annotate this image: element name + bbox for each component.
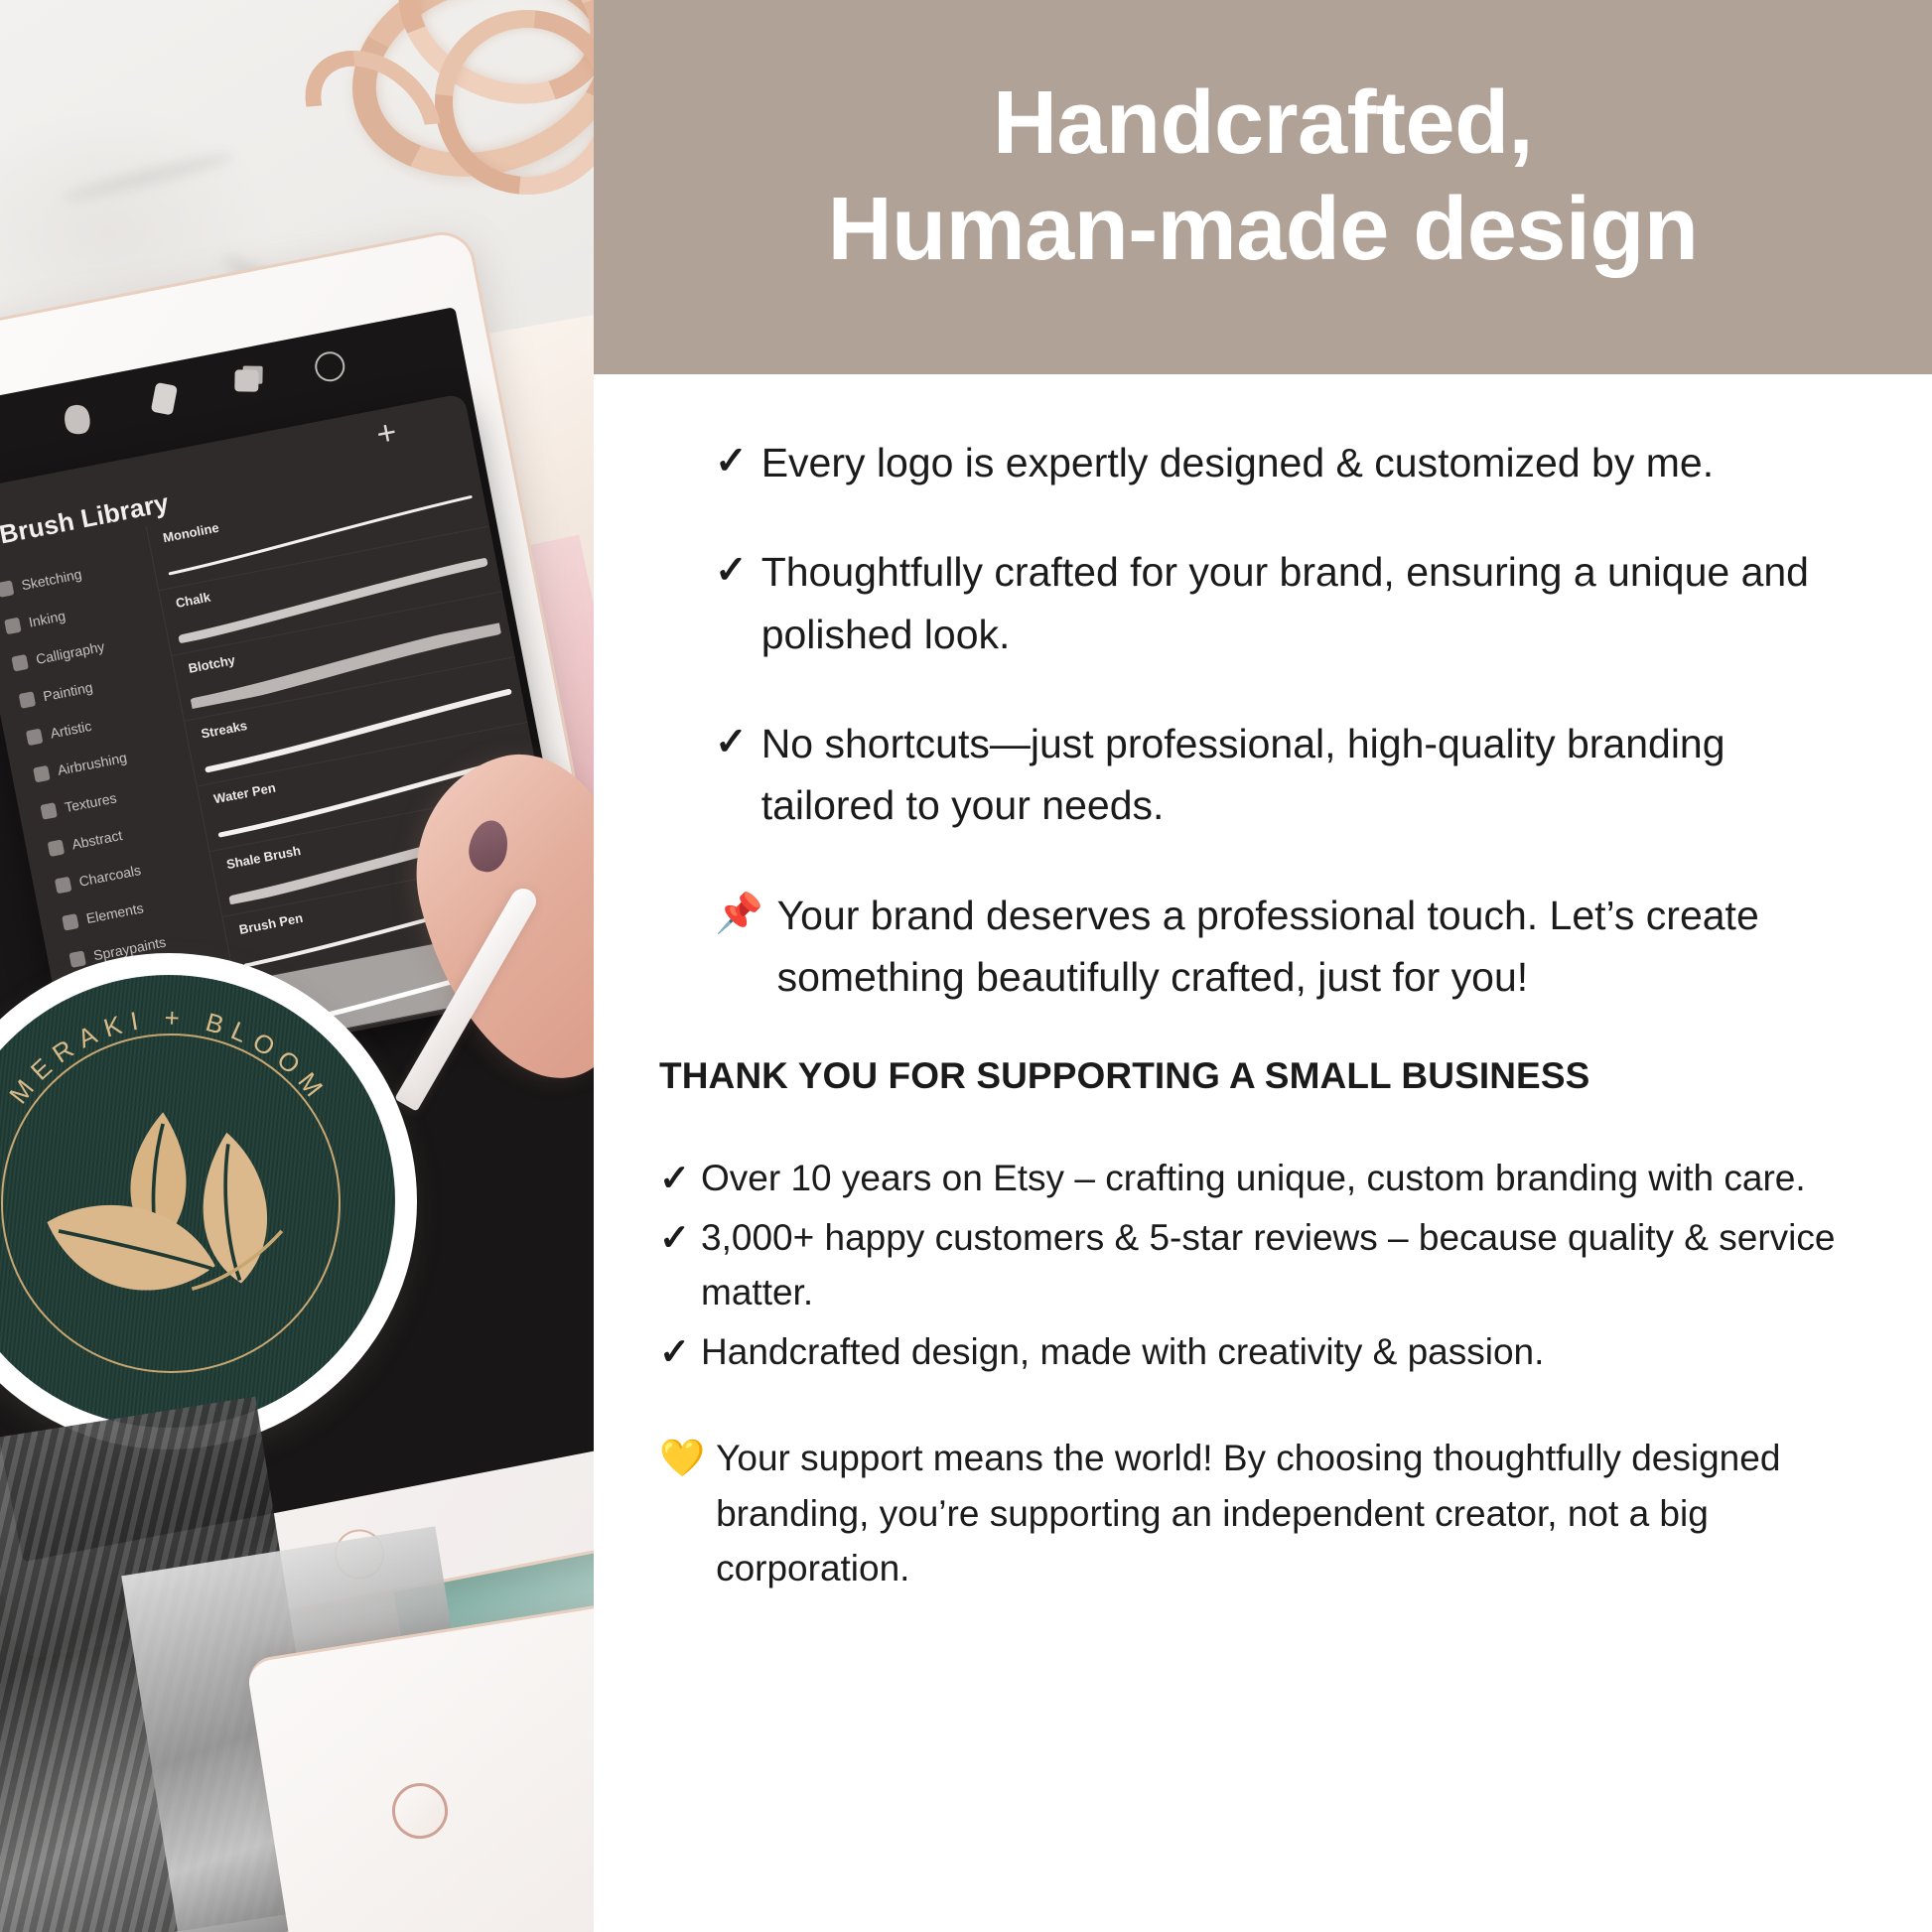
eraser-icon[interactable] xyxy=(151,382,178,416)
charcoals-icon xyxy=(55,876,72,894)
check-mark-icon: ✓ xyxy=(659,1210,690,1266)
brush-category-label: Painting xyxy=(42,679,94,704)
artistic-icon xyxy=(26,728,44,746)
leaf-emblem-icon xyxy=(24,1097,314,1359)
list-item: ✓ 3,000+ happy customers & 5-star review… xyxy=(659,1210,1872,1320)
body-area: ✓ Every logo is expertly designed & cust… xyxy=(594,432,1932,1596)
logo-sticker: MERAKI + BLOOM xyxy=(0,953,417,1449)
brush-category-label: Sketching xyxy=(20,566,82,593)
brush-category-label: Inking xyxy=(27,608,67,630)
layers-icon[interactable] xyxy=(234,369,258,391)
add-brush-button[interactable]: + xyxy=(373,415,399,452)
brush-preset-label: Chalk xyxy=(175,590,212,611)
logo-disc: MERAKI + BLOOM xyxy=(0,975,395,1428)
pushpin-icon: 📌 xyxy=(715,885,763,943)
check-mark-icon: ✓ xyxy=(659,1324,690,1380)
svg-text:MERAKI + BLOOM: MERAKI + BLOOM xyxy=(3,1003,335,1109)
home-button-secondary[interactable] xyxy=(388,1779,452,1843)
thank-you-heading: THANK YOU FOR SUPPORTING A SMALL BUSINES… xyxy=(594,1055,1932,1097)
sketching-icon xyxy=(0,580,14,598)
list-item: 📌 Your brand deserves a professional tou… xyxy=(715,885,1859,1009)
list-item-text: Handcrafted design, made with creativity… xyxy=(701,1324,1872,1380)
brush-category-label: Textures xyxy=(64,789,118,815)
brush-category-label: Abstract xyxy=(70,827,123,853)
spraypaints-icon xyxy=(69,950,86,968)
elements-icon xyxy=(62,913,79,931)
brush-category-label: Charcoals xyxy=(77,862,142,890)
fingernail xyxy=(465,817,512,876)
promo-graphic: Brush Library + Sketching Inking Calligr… xyxy=(0,0,1932,1932)
list-item-text: Over 10 years on Etsy – crafting unique,… xyxy=(701,1151,1872,1206)
abstract-icon xyxy=(48,839,66,857)
closing-text: Your support means the world! By choosin… xyxy=(716,1431,1888,1596)
marble-vein xyxy=(61,147,238,206)
brush-preset-label: Monoline xyxy=(162,520,220,546)
check-mark-icon: ✓ xyxy=(715,432,748,490)
list-item-text: 3,000+ happy customers & 5-star reviews … xyxy=(701,1210,1872,1320)
color-icon[interactable] xyxy=(313,349,347,384)
check-mark-icon: ✓ xyxy=(715,713,748,771)
list-item: ✓ Over 10 years on Etsy – crafting uniqu… xyxy=(659,1151,1872,1206)
closing-paragraph: 💛 Your support means the world! By choos… xyxy=(594,1431,1932,1596)
brush-category-label: Airbrushing xyxy=(56,750,128,778)
brush-category-label: Artistic xyxy=(49,718,92,742)
list-item-text: Your brand deserves a professional touch… xyxy=(777,885,1859,1009)
brush-preset-label: Streaks xyxy=(200,718,248,742)
brush-category-label: Calligraphy xyxy=(35,638,106,667)
calligraphy-icon xyxy=(11,653,29,671)
brush-preset-label: Blotchy xyxy=(187,652,236,676)
list-item: ✓ No shortcuts—just professional, high-q… xyxy=(715,713,1859,837)
product-photo-panel: Brush Library + Sketching Inking Calligr… xyxy=(0,0,594,1932)
check-mark-icon: ✓ xyxy=(715,541,748,600)
textures-icon xyxy=(40,802,58,820)
smudge-icon[interactable] xyxy=(61,401,94,438)
benefits-list: ✓ Every logo is expertly designed & cust… xyxy=(594,432,1932,1008)
list-item-text: Thoughtfully crafted for your brand, ens… xyxy=(761,541,1859,665)
yellow-heart-icon: 💛 xyxy=(659,1431,705,1486)
list-item: ✓ Every logo is expertly designed & cust… xyxy=(715,432,1859,493)
header-band: Handcrafted, Human-made design xyxy=(594,0,1932,374)
inking-icon xyxy=(4,617,22,634)
check-mark-icon: ✓ xyxy=(659,1151,690,1206)
content-panel: Handcrafted, Human-made design ✓ Every l… xyxy=(594,0,1932,1932)
list-item-text: Every logo is expertly designed & custom… xyxy=(761,432,1859,493)
list-item: ✓ Handcrafted design, made with creativi… xyxy=(659,1324,1872,1380)
list-item: ✓ Thoughtfully crafted for your brand, e… xyxy=(715,541,1859,665)
credentials-list: ✓ Over 10 years on Etsy – crafting uniqu… xyxy=(594,1151,1932,1379)
logo-arc-label: MERAKI + BLOOM xyxy=(3,1003,335,1109)
painting-icon xyxy=(19,691,37,709)
page-title: Handcrafted, Human-made design xyxy=(828,70,1699,281)
list-item-text: No shortcuts—just professional, high-qua… xyxy=(761,713,1859,837)
brush-category-label: Elements xyxy=(85,899,145,926)
airbrushing-icon xyxy=(33,764,51,782)
